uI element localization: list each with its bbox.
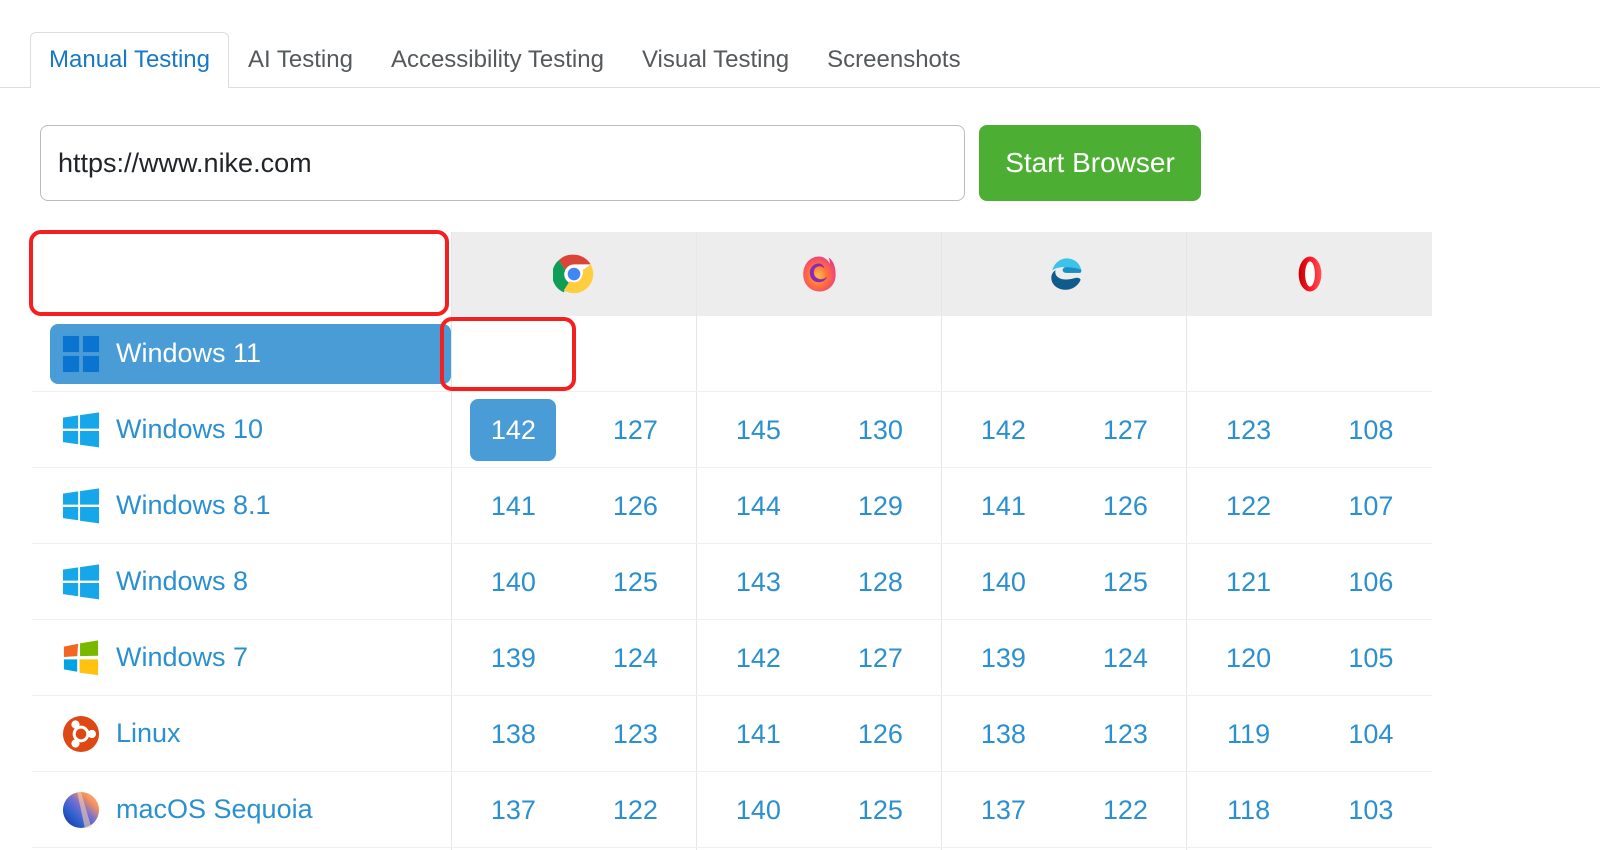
macos-sequoia-icon — [62, 791, 100, 829]
browser-versions-cell-opera: 120105 — [1187, 620, 1432, 696]
version-value[interactable]: 123 — [1082, 703, 1168, 765]
version-group: 142127 — [942, 392, 1186, 467]
browser-versions-cell-edge — [942, 316, 1187, 392]
version-value[interactable]: 127 — [1082, 399, 1168, 461]
version-value[interactable]: 130 — [837, 399, 923, 461]
windows-8-icon — [62, 487, 100, 525]
version-value[interactable]: 137 — [960, 779, 1046, 841]
version-group: 137122 — [452, 772, 696, 847]
os-cell[interactable]: Windows 11 — [32, 316, 452, 392]
version-value[interactable]: 119 — [1206, 703, 1292, 765]
os-entry-linux[interactable]: Linux — [50, 704, 451, 764]
version-value[interactable]: 139 — [470, 627, 556, 689]
os-label: Windows 10 — [116, 414, 263, 445]
version-group: 141126 — [452, 468, 696, 543]
chrome-icon — [553, 265, 595, 282]
os-label: Linux — [116, 718, 181, 749]
version-group: 120105 — [1187, 620, 1432, 695]
version-value[interactable]: 142 — [715, 627, 801, 689]
version-value[interactable]: 124 — [592, 627, 678, 689]
matrix-row: macOS Sequoia137122140125137122118103 — [32, 772, 1432, 848]
matrix-row: Linux138123141126138123119104 — [32, 696, 1432, 772]
version-value[interactable]: 138 — [960, 703, 1046, 765]
browser-versions-cell-edge: 139124 — [942, 620, 1187, 696]
browser-versions-cell-opera: 123108 — [1187, 392, 1432, 468]
matrix-row: Windows 8.1141126144129141126122107 — [32, 468, 1432, 544]
version-value[interactable]: 122 — [1082, 779, 1168, 841]
version-group — [1187, 316, 1432, 391]
version-value[interactable]: 140 — [470, 551, 556, 613]
os-cell[interactable]: Windows 7 — [32, 620, 452, 696]
browser-versions-cell-opera: 122107 — [1187, 468, 1432, 544]
version-value[interactable]: 128 — [837, 551, 923, 613]
version-value[interactable]: 122 — [1206, 475, 1292, 537]
version-value[interactable]: 126 — [1082, 475, 1168, 537]
version-value[interactable]: 129 — [837, 475, 923, 537]
version-value[interactable]: 108 — [1328, 399, 1414, 461]
app-root: Manual TestingAI TestingAccessibility Te… — [0, 0, 1600, 850]
browser-launch-toolbar: Start Browser — [40, 125, 1201, 201]
matrix-row: Windows 10142127145130142127123108 — [32, 392, 1432, 468]
os-entry-windows-8-1[interactable]: Windows 8.1 — [50, 476, 451, 536]
browser-versions-cell-chrome: 138123 — [452, 696, 697, 772]
version-value[interactable]: 143 — [715, 551, 801, 613]
version-group: 121106 — [1187, 544, 1432, 619]
os-label: Windows 8 — [116, 566, 248, 597]
version-group: 139124 — [942, 620, 1186, 695]
version-value[interactable]: 141 — [470, 475, 556, 537]
version-group: 141126 — [697, 696, 941, 771]
os-cell[interactable]: Windows 8.1 — [32, 468, 452, 544]
browser-versions-cell-opera: 119104 — [1187, 696, 1432, 772]
browser-versions-cell-edge: 138123 — [942, 696, 1187, 772]
version-value[interactable]: 123 — [592, 703, 678, 765]
browser-versions-cell-firefox — [697, 316, 942, 392]
os-cell[interactable]: macOS Sequoia — [32, 772, 452, 848]
version-group: 142127 — [697, 620, 941, 695]
os-entry-windows-7[interactable]: Windows 7 — [50, 628, 451, 688]
version-value[interactable]: 137 — [470, 779, 556, 841]
browser-column-header-firefox — [697, 232, 942, 316]
tab-manual-testing[interactable]: Manual Testing — [30, 32, 229, 88]
version-value[interactable]: 127 — [837, 627, 923, 689]
version-value[interactable]: 126 — [837, 703, 923, 765]
browser-versions-cell-edge: 140125 — [942, 544, 1187, 620]
ubuntu-icon — [62, 715, 100, 753]
start-browser-button[interactable]: Start Browser — [979, 125, 1201, 201]
browser-versions-cell-opera — [1187, 316, 1432, 392]
browser-versions-cell-chrome: 139124 — [452, 620, 697, 696]
browser-versions-cell-firefox: 141126 — [697, 696, 942, 772]
version-group — [942, 316, 1186, 391]
version-group: 122107 — [1187, 468, 1432, 543]
version-group: 139124 — [452, 620, 696, 695]
version-value[interactable]: 140 — [960, 551, 1046, 613]
version-value[interactable]: 126 — [592, 475, 678, 537]
tab-bar: Manual TestingAI TestingAccessibility Te… — [0, 28, 1600, 88]
os-cell[interactable]: Windows 10 — [32, 392, 452, 468]
matrix-row: Windows 11 — [32, 316, 1432, 392]
matrix-row: Windows 8140125143128140125121106 — [32, 544, 1432, 620]
version-group: 143128 — [697, 544, 941, 619]
version-value[interactable]: 125 — [1082, 551, 1168, 613]
os-label: Windows 8.1 — [116, 490, 271, 521]
tab-screenshots[interactable]: Screenshots — [808, 32, 979, 88]
version-group: 118103 — [1187, 772, 1432, 847]
os-entry-windows-8[interactable]: Windows 8 — [50, 552, 451, 612]
version-value[interactable]: 107 — [1328, 475, 1414, 537]
browser-versions-cell-firefox: 143128 — [697, 544, 942, 620]
version-value[interactable]: 105 — [1328, 627, 1414, 689]
version-value[interactable]: 125 — [592, 551, 678, 613]
browser-versions-cell-chrome: 141126 — [452, 468, 697, 544]
version-group — [452, 316, 696, 391]
version-value[interactable]: 125 — [837, 779, 923, 841]
windows-10-icon — [62, 411, 100, 449]
windows-11-icon — [62, 335, 100, 373]
browser-versions-cell-chrome: 137122 — [452, 772, 697, 848]
version-group: 141126 — [942, 468, 1186, 543]
os-entry-windows-10[interactable]: Windows 10 — [50, 400, 451, 460]
version-group: 144129 — [697, 468, 941, 543]
browser-versions-cell-firefox: 144129 — [697, 468, 942, 544]
version-value[interactable]: 145 — [715, 399, 801, 461]
version-group — [697, 316, 941, 391]
version-value[interactable]: 141 — [715, 703, 801, 765]
version-value[interactable]: 144 — [715, 475, 801, 537]
version-group: 140125 — [697, 772, 941, 847]
browser-versions-cell-edge: 141126 — [942, 468, 1187, 544]
version-group: 142127 — [452, 392, 696, 467]
version-value[interactable]: 103 — [1328, 779, 1414, 841]
version-value[interactable]: 124 — [1082, 627, 1168, 689]
browser-versions-cell-chrome — [452, 316, 697, 392]
version-value[interactable]: 142 — [960, 399, 1046, 461]
url-input[interactable] — [40, 125, 965, 201]
os-label: Windows 7 — [116, 642, 248, 673]
os-label: macOS Sequoia — [116, 794, 313, 825]
version-value[interactable]: 123 — [1206, 399, 1292, 461]
version-value[interactable]: 139 — [960, 627, 1046, 689]
version-group: 119104 — [1187, 696, 1432, 771]
browser-versions-cell-opera: 121106 — [1187, 544, 1432, 620]
browser-column-header-chrome — [452, 232, 697, 316]
browser-column-header-edge — [942, 232, 1187, 316]
version-value[interactable]: 106 — [1328, 551, 1414, 613]
browser-versions-cell-edge: 142127 — [942, 392, 1187, 468]
version-value[interactable]: 141 — [960, 475, 1046, 537]
os-cell[interactable]: Windows 8 — [32, 544, 452, 620]
browser-versions-cell-edge: 137122 — [942, 772, 1187, 848]
matrix-row: Windows 7139124142127139124120105 — [32, 620, 1432, 696]
os-cell[interactable]: Linux — [32, 696, 452, 772]
windows-7-icon — [62, 639, 100, 677]
version-value[interactable]: 138 — [470, 703, 556, 765]
browser-versions-cell-firefox: 140125 — [697, 772, 942, 848]
os-column-header — [32, 232, 452, 316]
version-value[interactable]: 122 — [592, 779, 678, 841]
os-browser-matrix: Windows 11Windows 1014212714513014212712… — [32, 232, 1432, 850]
version-value[interactable]: 127 — [592, 399, 678, 461]
version-value[interactable]: 140 — [715, 779, 801, 841]
tab-accessibility-testing[interactable]: Accessibility Testing — [372, 32, 623, 88]
browser-versions-cell-opera: 118103 — [1187, 772, 1432, 848]
windows-8-icon — [62, 563, 100, 601]
opera-icon — [1289, 265, 1331, 282]
version-value[interactable]: 120 — [1206, 627, 1292, 689]
version-value[interactable]: 104 — [1328, 703, 1414, 765]
os-entry-windows-11[interactable]: Windows 11 — [50, 324, 451, 384]
version-group: 138123 — [942, 696, 1186, 771]
firefox-icon — [798, 265, 840, 282]
os-entry-macos-sequoia[interactable]: macOS Sequoia — [50, 780, 451, 840]
version-value[interactable]: 118 — [1206, 779, 1292, 841]
version-group: 145130 — [697, 392, 941, 467]
os-label: Windows 11 — [116, 338, 261, 369]
tab-ai-testing[interactable]: AI Testing — [229, 32, 372, 88]
browser-versions-cell-firefox: 145130 — [697, 392, 942, 468]
version-group: 137122 — [942, 772, 1186, 847]
edge-icon — [1043, 265, 1085, 282]
version-value-selected[interactable]: 142 — [470, 399, 556, 461]
tab-visual-testing[interactable]: Visual Testing — [623, 32, 808, 88]
version-group: 140125 — [452, 544, 696, 619]
version-value[interactable]: 121 — [1206, 551, 1292, 613]
matrix-header-row — [32, 232, 1432, 316]
version-group: 140125 — [942, 544, 1186, 619]
browser-column-header-opera — [1187, 232, 1432, 316]
version-group: 123108 — [1187, 392, 1432, 467]
browser-versions-cell-chrome: 142127 — [452, 392, 697, 468]
browser-versions-cell-chrome: 140125 — [452, 544, 697, 620]
browser-versions-cell-firefox: 142127 — [697, 620, 942, 696]
version-group: 138123 — [452, 696, 696, 771]
